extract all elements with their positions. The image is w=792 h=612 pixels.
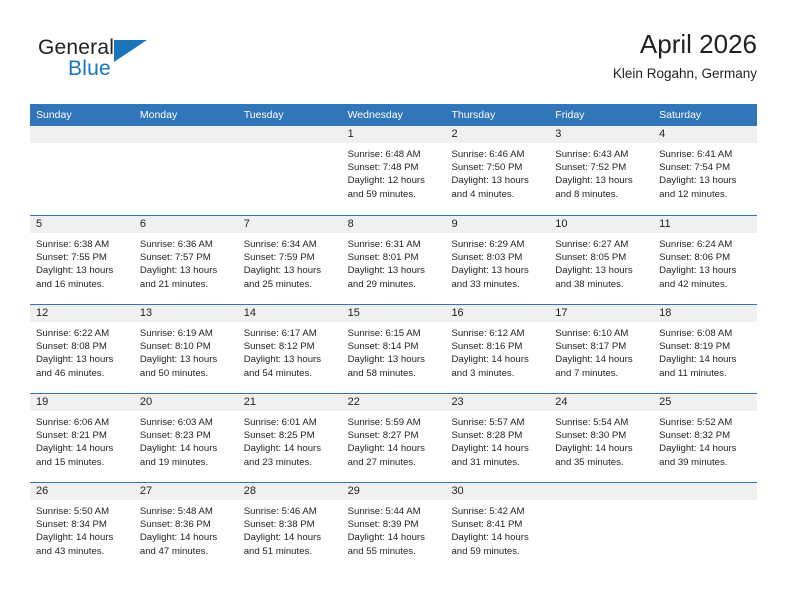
day-detail-line: Daylight: 13 hours — [348, 264, 440, 277]
day-number-band: 6 — [134, 216, 238, 233]
day-number: 27 — [134, 483, 238, 500]
day-detail-line: Daylight: 14 hours — [659, 353, 751, 366]
day-details: Sunrise: 6:19 AMSunset: 8:10 PMDaylight:… — [134, 322, 238, 380]
day-number-band: 28 — [238, 483, 342, 500]
day-detail-line: Daylight: 13 hours — [244, 353, 336, 366]
day-cell-9[interactable]: 9Sunrise: 6:29 AMSunset: 8:03 PMDaylight… — [445, 216, 549, 304]
day-detail-line: Daylight: 14 hours — [451, 442, 543, 455]
day-detail-line: and 3 minutes. — [451, 367, 543, 380]
day-detail-line: Sunset: 8:06 PM — [659, 251, 751, 264]
day-number: 8 — [342, 216, 446, 233]
day-number-band: 29 — [342, 483, 446, 500]
day-details: Sunrise: 5:57 AMSunset: 8:28 PMDaylight:… — [445, 411, 549, 469]
day-detail-line: Sunrise: 5:44 AM — [348, 505, 440, 518]
calendar-weeks: 1Sunrise: 6:48 AMSunset: 7:48 PMDaylight… — [30, 126, 757, 571]
day-detail-line: and 19 minutes. — [140, 456, 232, 469]
day-detail-line: Sunset: 8:32 PM — [659, 429, 751, 442]
day-detail-line: Sunset: 7:59 PM — [244, 251, 336, 264]
day-number: 22 — [342, 394, 446, 411]
day-number: 16 — [445, 305, 549, 322]
triangle-flag-icon — [114, 40, 147, 62]
day-details: Sunrise: 5:44 AMSunset: 8:39 PMDaylight:… — [342, 500, 446, 558]
day-detail-line: Daylight: 13 hours — [140, 264, 232, 277]
day-detail-line: Daylight: 14 hours — [244, 442, 336, 455]
day-detail-line: Sunset: 8:41 PM — [451, 518, 543, 531]
day-cell-empty — [30, 126, 134, 215]
day-detail-line: Sunrise: 6:08 AM — [659, 327, 751, 340]
day-number: 9 — [445, 216, 549, 233]
day-cell-11[interactable]: 11Sunrise: 6:24 AMSunset: 8:06 PMDayligh… — [653, 216, 757, 304]
day-detail-line: Sunrise: 6:43 AM — [555, 148, 647, 161]
day-detail-line: Sunrise: 5:48 AM — [140, 505, 232, 518]
day-detail-line: and 23 minutes. — [244, 456, 336, 469]
day-detail-line: Daylight: 14 hours — [140, 442, 232, 455]
day-cell-empty — [653, 483, 757, 571]
title-block: April 2026 Klein Rogahn, Germany — [613, 28, 757, 84]
day-detail-line: and 7 minutes. — [555, 367, 647, 380]
day-detail-line: Daylight: 13 hours — [451, 264, 543, 277]
day-number: 24 — [549, 394, 653, 411]
day-detail-line: Sunset: 8:12 PM — [244, 340, 336, 353]
day-detail-line: Sunrise: 6:22 AM — [36, 327, 128, 340]
day-number-band: 14 — [238, 305, 342, 322]
day-number-band: 9 — [445, 216, 549, 233]
day-cell-26[interactable]: 26Sunrise: 5:50 AMSunset: 8:34 PMDayligh… — [30, 483, 134, 571]
day-details: Sunrise: 6:31 AMSunset: 8:01 PMDaylight:… — [342, 233, 446, 291]
day-cell-23[interactable]: 23Sunrise: 5:57 AMSunset: 8:28 PMDayligh… — [445, 394, 549, 482]
day-cell-2[interactable]: 2Sunrise: 6:46 AMSunset: 7:50 PMDaylight… — [445, 126, 549, 215]
day-number-band: 23 — [445, 394, 549, 411]
day-details: Sunrise: 6:08 AMSunset: 8:19 PMDaylight:… — [653, 322, 757, 380]
day-detail-line: and 8 minutes. — [555, 188, 647, 201]
day-detail-line: Sunrise: 6:03 AM — [140, 416, 232, 429]
weekday-header-monday: Monday — [134, 104, 238, 126]
day-number: 21 — [238, 394, 342, 411]
day-detail-line: and 31 minutes. — [451, 456, 543, 469]
day-detail-line: Sunrise: 5:50 AM — [36, 505, 128, 518]
day-cell-empty — [134, 126, 238, 215]
day-detail-line: Daylight: 12 hours — [348, 174, 440, 187]
day-cell-24[interactable]: 24Sunrise: 5:54 AMSunset: 8:30 PMDayligh… — [549, 394, 653, 482]
day-number-band — [30, 126, 134, 143]
day-details: Sunrise: 5:54 AMSunset: 8:30 PMDaylight:… — [549, 411, 653, 469]
day-number-band: 5 — [30, 216, 134, 233]
day-detail-line: Daylight: 13 hours — [244, 264, 336, 277]
day-number-band: 18 — [653, 305, 757, 322]
weekday-header-saturday: Saturday — [653, 104, 757, 126]
day-details: Sunrise: 6:24 AMSunset: 8:06 PMDaylight:… — [653, 233, 757, 291]
day-number-band: 1 — [342, 126, 446, 143]
day-detail-line: Sunset: 8:05 PM — [555, 251, 647, 264]
calendar-week-row: 5Sunrise: 6:38 AMSunset: 7:55 PMDaylight… — [30, 215, 757, 304]
day-number: 6 — [134, 216, 238, 233]
day-number-band: 17 — [549, 305, 653, 322]
day-detail-line: Sunset: 8:21 PM — [36, 429, 128, 442]
day-detail-line: Sunset: 8:25 PM — [244, 429, 336, 442]
day-cell-27[interactable]: 27Sunrise: 5:48 AMSunset: 8:36 PMDayligh… — [134, 483, 238, 571]
day-details: Sunrise: 6:06 AMSunset: 8:21 PMDaylight:… — [30, 411, 134, 469]
day-cell-14[interactable]: 14Sunrise: 6:17 AMSunset: 8:12 PMDayligh… — [238, 305, 342, 393]
calendar-page: General Blue April 2026 Klein Rogahn, Ge… — [0, 0, 792, 612]
day-cell-28[interactable]: 28Sunrise: 5:46 AMSunset: 8:38 PMDayligh… — [238, 483, 342, 571]
day-detail-line: Daylight: 14 hours — [451, 353, 543, 366]
day-detail-line: Sunrise: 6:24 AM — [659, 238, 751, 251]
day-cell-10[interactable]: 10Sunrise: 6:27 AMSunset: 8:05 PMDayligh… — [549, 216, 653, 304]
day-detail-line: Sunset: 8:38 PM — [244, 518, 336, 531]
day-number-band: 20 — [134, 394, 238, 411]
day-number-band: 3 — [549, 126, 653, 143]
day-detail-line: Daylight: 13 hours — [555, 174, 647, 187]
day-details: Sunrise: 6:38 AMSunset: 7:55 PMDaylight:… — [30, 233, 134, 291]
day-details: Sunrise: 6:10 AMSunset: 8:17 PMDaylight:… — [549, 322, 653, 380]
day-detail-line: Sunrise: 6:36 AM — [140, 238, 232, 251]
day-details: Sunrise: 6:48 AMSunset: 7:48 PMDaylight:… — [342, 143, 446, 201]
day-detail-line: and 39 minutes. — [659, 456, 751, 469]
calendar-week-row: 26Sunrise: 5:50 AMSunset: 8:34 PMDayligh… — [30, 482, 757, 571]
day-detail-line: and 25 minutes. — [244, 278, 336, 291]
day-detail-line: Daylight: 13 hours — [451, 174, 543, 187]
day-number-band — [549, 483, 653, 500]
day-detail-line: Sunset: 8:08 PM — [36, 340, 128, 353]
day-number: 28 — [238, 483, 342, 500]
day-details: Sunrise: 6:29 AMSunset: 8:03 PMDaylight:… — [445, 233, 549, 291]
day-number: 23 — [445, 394, 549, 411]
day-detail-line: and 46 minutes. — [36, 367, 128, 380]
day-detail-line: Daylight: 14 hours — [555, 353, 647, 366]
day-detail-line: Daylight: 14 hours — [244, 531, 336, 544]
day-number: 15 — [342, 305, 446, 322]
day-detail-line: and 27 minutes. — [348, 456, 440, 469]
general-blue-logo[interactable]: General Blue — [38, 36, 168, 88]
day-detail-line: Sunrise: 5:52 AM — [659, 416, 751, 429]
day-number-band: 27 — [134, 483, 238, 500]
calendar-week-row: 1Sunrise: 6:48 AMSunset: 7:48 PMDaylight… — [30, 126, 757, 215]
day-number-band: 13 — [134, 305, 238, 322]
day-number-band: 4 — [653, 126, 757, 143]
day-details: Sunrise: 6:01 AMSunset: 8:25 PMDaylight:… — [238, 411, 342, 469]
day-details: Sunrise: 5:46 AMSunset: 8:38 PMDaylight:… — [238, 500, 342, 558]
logo-text-blue: Blue — [68, 57, 111, 81]
day-detail-line: Sunset: 8:34 PM — [36, 518, 128, 531]
day-detail-line: Daylight: 14 hours — [348, 442, 440, 455]
day-number-band: 2 — [445, 126, 549, 143]
day-detail-line: Sunset: 8:19 PM — [659, 340, 751, 353]
day-number-band: 24 — [549, 394, 653, 411]
day-detail-line: Daylight: 14 hours — [36, 442, 128, 455]
day-number-band — [653, 483, 757, 500]
day-details: Sunrise: 6:15 AMSunset: 8:14 PMDaylight:… — [342, 322, 446, 380]
day-number: 5 — [30, 216, 134, 233]
day-cell-1[interactable]: 1Sunrise: 6:48 AMSunset: 7:48 PMDaylight… — [342, 126, 446, 215]
day-number: 4 — [653, 126, 757, 143]
day-number: 19 — [30, 394, 134, 411]
day-cell-17[interactable]: 17Sunrise: 6:10 AMSunset: 8:17 PMDayligh… — [549, 305, 653, 393]
day-detail-line: Sunset: 8:17 PM — [555, 340, 647, 353]
day-number-band: 8 — [342, 216, 446, 233]
day-number: 25 — [653, 394, 757, 411]
day-cell-empty — [549, 483, 653, 571]
day-cell-13[interactable]: 13Sunrise: 6:19 AMSunset: 8:10 PMDayligh… — [134, 305, 238, 393]
day-number-band: 7 — [238, 216, 342, 233]
day-number-band: 25 — [653, 394, 757, 411]
day-detail-line: and 55 minutes. — [348, 545, 440, 558]
day-number-band: 15 — [342, 305, 446, 322]
calendar-week-row: 19Sunrise: 6:06 AMSunset: 8:21 PMDayligh… — [30, 393, 757, 482]
day-detail-line: and 42 minutes. — [659, 278, 751, 291]
day-cell-8[interactable]: 8Sunrise: 6:31 AMSunset: 8:01 PMDaylight… — [342, 216, 446, 304]
day-cell-20[interactable]: 20Sunrise: 6:03 AMSunset: 8:23 PMDayligh… — [134, 394, 238, 482]
day-number: 12 — [30, 305, 134, 322]
day-number: 18 — [653, 305, 757, 322]
day-detail-line: Daylight: 14 hours — [659, 442, 751, 455]
day-number-band: 16 — [445, 305, 549, 322]
day-detail-line: and 16 minutes. — [36, 278, 128, 291]
day-detail-line: Sunset: 8:14 PM — [348, 340, 440, 353]
day-detail-line: Sunset: 8:36 PM — [140, 518, 232, 531]
day-detail-line: and 35 minutes. — [555, 456, 647, 469]
day-detail-line: and 50 minutes. — [140, 367, 232, 380]
day-detail-line: Daylight: 14 hours — [451, 531, 543, 544]
day-cell-3[interactable]: 3Sunrise: 6:43 AMSunset: 7:52 PMDaylight… — [549, 126, 653, 215]
day-detail-line: and 4 minutes. — [451, 188, 543, 201]
day-cell-21[interactable]: 21Sunrise: 6:01 AMSunset: 8:25 PMDayligh… — [238, 394, 342, 482]
day-detail-line: Daylight: 13 hours — [36, 264, 128, 277]
page-title: April 2026 — [613, 28, 757, 60]
day-number: 13 — [134, 305, 238, 322]
day-number: 1 — [342, 126, 446, 143]
day-number-band: 21 — [238, 394, 342, 411]
day-detail-line: and 54 minutes. — [244, 367, 336, 380]
day-detail-line: Sunset: 8:01 PM — [348, 251, 440, 264]
page-header: General Blue April 2026 Klein Rogahn, Ge… — [30, 28, 757, 98]
day-detail-line: Daylight: 13 hours — [659, 174, 751, 187]
day-detail-line: and 47 minutes. — [140, 545, 232, 558]
day-detail-line: Sunrise: 6:01 AM — [244, 416, 336, 429]
day-details: Sunrise: 5:52 AMSunset: 8:32 PMDaylight:… — [653, 411, 757, 469]
day-detail-line: Daylight: 14 hours — [36, 531, 128, 544]
day-detail-line: Sunrise: 5:42 AM — [451, 505, 543, 518]
day-detail-line: Sunrise: 6:31 AM — [348, 238, 440, 251]
weekday-header-thursday: Thursday — [445, 104, 549, 126]
day-detail-line: Sunset: 8:28 PM — [451, 429, 543, 442]
day-detail-line: Sunrise: 6:48 AM — [348, 148, 440, 161]
day-detail-line: Sunrise: 6:34 AM — [244, 238, 336, 251]
day-number: 30 — [445, 483, 549, 500]
day-detail-line: Daylight: 13 hours — [140, 353, 232, 366]
weekday-header-row: SundayMondayTuesdayWednesdayThursdayFrid… — [30, 104, 757, 126]
day-detail-line: and 59 minutes. — [348, 188, 440, 201]
day-detail-line: Sunrise: 6:15 AM — [348, 327, 440, 340]
day-detail-line: Sunset: 8:23 PM — [140, 429, 232, 442]
page-subtitle-location: Klein Rogahn, Germany — [613, 64, 757, 84]
day-detail-line: Sunrise: 5:57 AM — [451, 416, 543, 429]
day-detail-line: Sunrise: 5:59 AM — [348, 416, 440, 429]
day-details: Sunrise: 6:03 AMSunset: 8:23 PMDaylight:… — [134, 411, 238, 469]
calendar-week-row: 12Sunrise: 6:22 AMSunset: 8:08 PMDayligh… — [30, 304, 757, 393]
day-detail-line: Daylight: 14 hours — [140, 531, 232, 544]
day-detail-line: Sunrise: 6:27 AM — [555, 238, 647, 251]
day-cell-empty — [238, 126, 342, 215]
day-detail-line: Sunrise: 6:29 AM — [451, 238, 543, 251]
calendar-grid: SundayMondayTuesdayWednesdayThursdayFrid… — [30, 104, 757, 571]
day-detail-line: and 21 minutes. — [140, 278, 232, 291]
day-detail-line: and 15 minutes. — [36, 456, 128, 469]
day-details: Sunrise: 5:50 AMSunset: 8:34 PMDaylight:… — [30, 500, 134, 558]
day-detail-line: and 59 minutes. — [451, 545, 543, 558]
day-detail-line: Sunset: 7:55 PM — [36, 251, 128, 264]
day-cell-15[interactable]: 15Sunrise: 6:15 AMSunset: 8:14 PMDayligh… — [342, 305, 446, 393]
day-cell-4[interactable]: 4Sunrise: 6:41 AMSunset: 7:54 PMDaylight… — [653, 126, 757, 215]
day-cell-30[interactable]: 30Sunrise: 5:42 AMSunset: 8:41 PMDayligh… — [445, 483, 549, 571]
day-detail-line: and 29 minutes. — [348, 278, 440, 291]
day-detail-line: and 12 minutes. — [659, 188, 751, 201]
day-detail-line: Sunset: 8:03 PM — [451, 251, 543, 264]
day-number-band: 11 — [653, 216, 757, 233]
day-detail-line: Sunrise: 6:38 AM — [36, 238, 128, 251]
day-detail-line: Daylight: 13 hours — [36, 353, 128, 366]
day-details: Sunrise: 6:36 AMSunset: 7:57 PMDaylight:… — [134, 233, 238, 291]
day-detail-line: and 58 minutes. — [348, 367, 440, 380]
day-detail-line: Daylight: 14 hours — [348, 531, 440, 544]
day-number: 10 — [549, 216, 653, 233]
day-detail-line: Daylight: 14 hours — [555, 442, 647, 455]
day-cell-6[interactable]: 6Sunrise: 6:36 AMSunset: 7:57 PMDaylight… — [134, 216, 238, 304]
day-number: 26 — [30, 483, 134, 500]
day-number: 20 — [134, 394, 238, 411]
day-cell-5[interactable]: 5Sunrise: 6:38 AMSunset: 7:55 PMDaylight… — [30, 216, 134, 304]
day-detail-line: Sunrise: 6:19 AM — [140, 327, 232, 340]
day-number: 3 — [549, 126, 653, 143]
day-number: 14 — [238, 305, 342, 322]
day-cell-12[interactable]: 12Sunrise: 6:22 AMSunset: 8:08 PMDayligh… — [30, 305, 134, 393]
day-cell-18[interactable]: 18Sunrise: 6:08 AMSunset: 8:19 PMDayligh… — [653, 305, 757, 393]
weekday-header-tuesday: Tuesday — [238, 104, 342, 126]
day-details: Sunrise: 6:22 AMSunset: 8:08 PMDaylight:… — [30, 322, 134, 380]
weekday-header-friday: Friday — [549, 104, 653, 126]
day-details: Sunrise: 6:46 AMSunset: 7:50 PMDaylight:… — [445, 143, 549, 201]
day-details: Sunrise: 6:34 AMSunset: 7:59 PMDaylight:… — [238, 233, 342, 291]
day-number-band: 10 — [549, 216, 653, 233]
day-details: Sunrise: 6:43 AMSunset: 7:52 PMDaylight:… — [549, 143, 653, 201]
day-detail-line: Daylight: 13 hours — [659, 264, 751, 277]
day-detail-line: Sunset: 8:30 PM — [555, 429, 647, 442]
day-number: 7 — [238, 216, 342, 233]
day-details: Sunrise: 6:17 AMSunset: 8:12 PMDaylight:… — [238, 322, 342, 380]
day-number: 17 — [549, 305, 653, 322]
day-detail-line: Sunset: 7:54 PM — [659, 161, 751, 174]
day-cell-16[interactable]: 16Sunrise: 6:12 AMSunset: 8:16 PMDayligh… — [445, 305, 549, 393]
day-number: 11 — [653, 216, 757, 233]
day-details: Sunrise: 5:48 AMSunset: 8:36 PMDaylight:… — [134, 500, 238, 558]
day-detail-line: and 51 minutes. — [244, 545, 336, 558]
day-cell-22[interactable]: 22Sunrise: 5:59 AMSunset: 8:27 PMDayligh… — [342, 394, 446, 482]
day-details: Sunrise: 5:42 AMSunset: 8:41 PMDaylight:… — [445, 500, 549, 558]
day-details: Sunrise: 6:41 AMSunset: 7:54 PMDaylight:… — [653, 143, 757, 201]
day-detail-line: Sunset: 8:10 PM — [140, 340, 232, 353]
day-detail-line: Sunrise: 5:46 AM — [244, 505, 336, 518]
day-detail-line: Sunset: 7:50 PM — [451, 161, 543, 174]
day-number-band: 26 — [30, 483, 134, 500]
day-number-band: 19 — [30, 394, 134, 411]
day-detail-line: and 38 minutes. — [555, 278, 647, 291]
day-detail-line: Sunset: 7:52 PM — [555, 161, 647, 174]
day-cell-7[interactable]: 7Sunrise: 6:34 AMSunset: 7:59 PMDaylight… — [238, 216, 342, 304]
day-number-band: 12 — [30, 305, 134, 322]
day-detail-line: and 11 minutes. — [659, 367, 751, 380]
day-cell-19[interactable]: 19Sunrise: 6:06 AMSunset: 8:21 PMDayligh… — [30, 394, 134, 482]
day-detail-line: Daylight: 13 hours — [348, 353, 440, 366]
day-detail-line: Sunrise: 6:06 AM — [36, 416, 128, 429]
day-detail-line: Sunset: 8:39 PM — [348, 518, 440, 531]
day-number-band — [238, 126, 342, 143]
day-detail-line: Sunrise: 5:54 AM — [555, 416, 647, 429]
day-detail-line: Sunset: 8:16 PM — [451, 340, 543, 353]
day-detail-line: Sunrise: 6:46 AM — [451, 148, 543, 161]
day-detail-line: Sunrise: 6:17 AM — [244, 327, 336, 340]
weekday-header-sunday: Sunday — [30, 104, 134, 126]
day-number-band: 30 — [445, 483, 549, 500]
day-details: Sunrise: 6:12 AMSunset: 8:16 PMDaylight:… — [445, 322, 549, 380]
weekday-header-wednesday: Wednesday — [342, 104, 446, 126]
day-detail-line: and 43 minutes. — [36, 545, 128, 558]
day-detail-line: Sunrise: 6:41 AM — [659, 148, 751, 161]
day-detail-line: Sunset: 8:27 PM — [348, 429, 440, 442]
day-detail-line: Sunset: 7:57 PM — [140, 251, 232, 264]
day-number: 2 — [445, 126, 549, 143]
day-cell-25[interactable]: 25Sunrise: 5:52 AMSunset: 8:32 PMDayligh… — [653, 394, 757, 482]
day-detail-line: Sunrise: 6:10 AM — [555, 327, 647, 340]
day-details: Sunrise: 6:27 AMSunset: 8:05 PMDaylight:… — [549, 233, 653, 291]
day-number-band — [134, 126, 238, 143]
day-detail-line: and 33 minutes. — [451, 278, 543, 291]
day-detail-line: Sunset: 7:48 PM — [348, 161, 440, 174]
day-cell-29[interactable]: 29Sunrise: 5:44 AMSunset: 8:39 PMDayligh… — [342, 483, 446, 571]
day-detail-line: Sunrise: 6:12 AM — [451, 327, 543, 340]
day-number-band: 22 — [342, 394, 446, 411]
day-details: Sunrise: 5:59 AMSunset: 8:27 PMDaylight:… — [342, 411, 446, 469]
day-number: 29 — [342, 483, 446, 500]
day-detail-line: Daylight: 13 hours — [555, 264, 647, 277]
